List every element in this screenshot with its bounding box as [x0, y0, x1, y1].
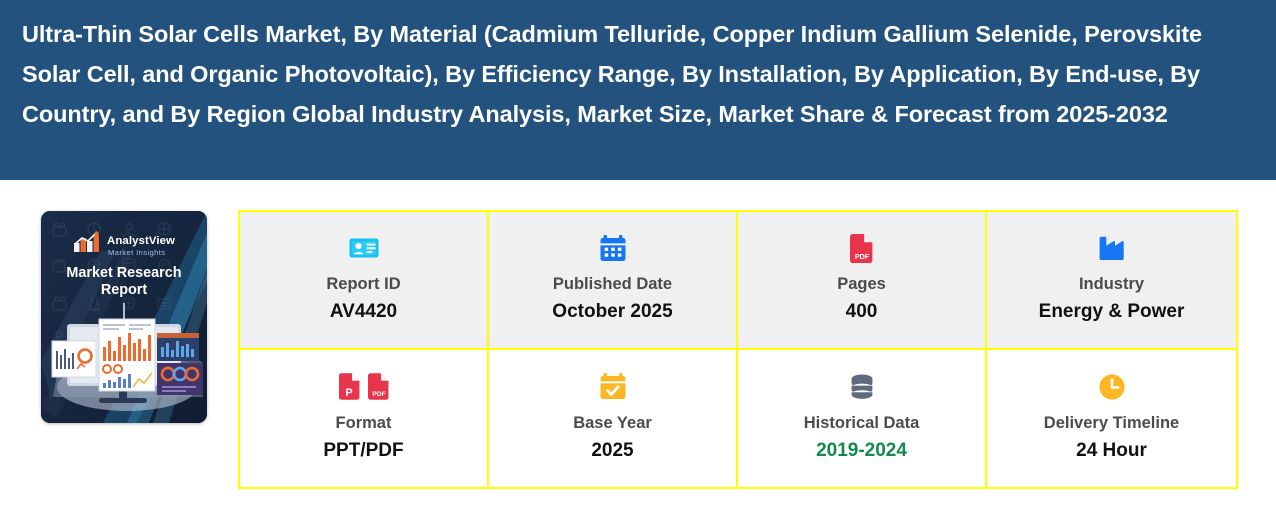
spec-label: Historical Data [804, 413, 920, 434]
svg-text:P: P [345, 387, 352, 399]
report-cover-thumbnail[interactable]: AnalystView Market Insights Market Resea… [41, 211, 207, 423]
factory-icon [1097, 231, 1127, 265]
svg-text:Market Insights: Market Insights [108, 248, 166, 257]
spec-value: AV4420 [330, 300, 397, 324]
calendar-icon [600, 231, 626, 265]
spec-label: Report ID [326, 274, 400, 295]
svg-text:PDF: PDF [372, 391, 385, 398]
spec-cell-delivery-timeline: Delivery Timeline 24 Hour [987, 350, 1236, 488]
calendar-check-icon [600, 370, 626, 404]
spec-value: 2025 [591, 439, 633, 463]
report-spec-grid: Report ID AV4420 [238, 210, 1238, 489]
svg-text:Report: Report [101, 282, 148, 298]
report-cover-artwork: AnalystView Market Insights Market Resea… [41, 211, 207, 423]
spec-label: Published Date [553, 274, 672, 295]
spec-cell-historical-data: Historical Data 2019-2024 [738, 350, 987, 488]
spec-value: 24 Hour [1076, 439, 1147, 463]
spec-value: 400 [846, 300, 878, 324]
spec-value: PPT/PDF [323, 439, 403, 463]
ppt-file-icon: P [339, 373, 360, 400]
database-icon [849, 370, 875, 404]
spec-label: Base Year [573, 413, 652, 434]
report-overview-page: Ultra-Thin Solar Cells Market, By Materi… [0, 0, 1276, 517]
ppt-pdf-files-icon: P PDF [339, 370, 389, 404]
spec-label: Delivery Timeline [1044, 413, 1179, 434]
report-details-body: AnalystView Market Insights Market Resea… [0, 180, 1276, 517]
spec-cell-format: P PDF Format PPT/PDF [240, 350, 489, 488]
spec-value: Energy & Power [1039, 300, 1185, 324]
spec-cell-report-id: Report ID AV4420 [240, 212, 489, 350]
spec-label: Format [336, 413, 392, 434]
svg-text:AnalystView: AnalystView [107, 235, 175, 247]
spec-label: Industry [1079, 274, 1144, 295]
pdf-file-icon: PDF [368, 373, 389, 400]
clock-icon [1099, 370, 1125, 404]
page-header-banner: Ultra-Thin Solar Cells Market, By Materi… [0, 0, 1276, 180]
spec-cell-published-date: Published Date October 2025 [489, 212, 738, 350]
page-title: Ultra-Thin Solar Cells Market, By Materi… [22, 14, 1240, 134]
svg-text:PDF: PDF [855, 252, 870, 261]
spec-value: October 2025 [552, 300, 672, 324]
pdf-file-icon: PDF [850, 231, 873, 265]
spec-cell-pages: PDF Pages 400 [738, 212, 987, 350]
svg-text:Market Research: Market Research [66, 265, 181, 281]
spec-label: Pages [837, 274, 886, 295]
id-card-icon [349, 231, 379, 265]
spec-value: 2019-2024 [816, 439, 907, 463]
spec-cell-industry: Industry Energy & Power [987, 212, 1236, 350]
spec-cell-base-year: Base Year 2025 [489, 350, 738, 488]
